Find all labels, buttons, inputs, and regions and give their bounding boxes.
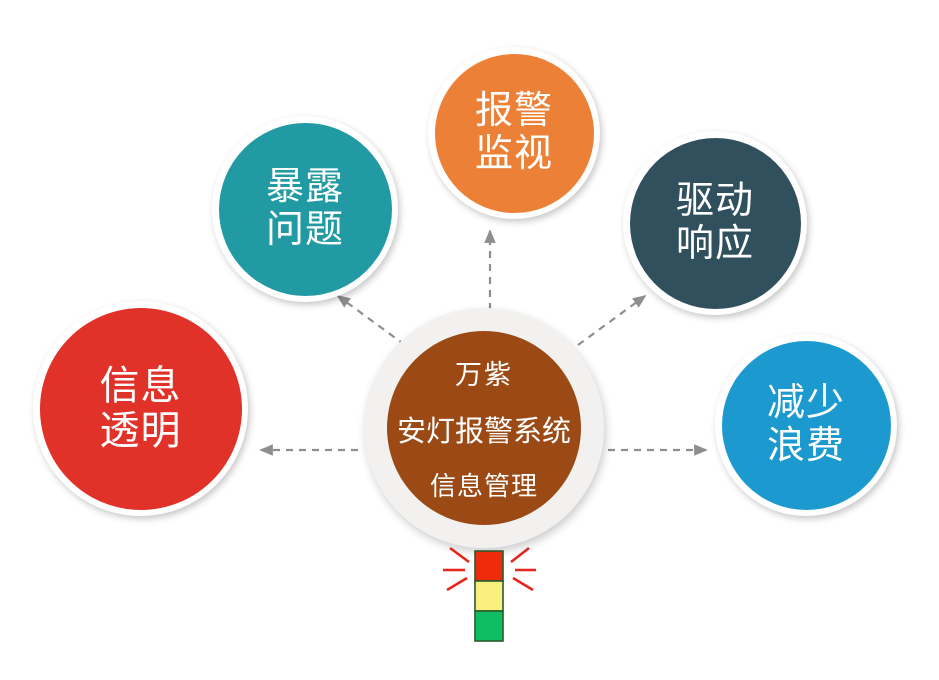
node-information-transparency[interactable]: 信息 透明 bbox=[33, 301, 248, 516]
center-node-core: 万紫 安灯报警系统 信息管理 bbox=[387, 331, 581, 525]
node-information-transparency-line-2: 透明 bbox=[100, 409, 182, 454]
node-information-transparency-line-1: 信息 bbox=[100, 364, 182, 409]
andon-light-tower-icon bbox=[430, 536, 550, 651]
node-alarm-monitoring-line-1: 报警 bbox=[475, 90, 553, 133]
node-reduce-waste-line-2: 浪费 bbox=[767, 425, 845, 468]
node-expose-problems-line-2: 问题 bbox=[266, 209, 344, 252]
node-reduce-waste[interactable]: 减少 浪费 bbox=[715, 334, 897, 516]
node-drive-response-line-1: 驱动 bbox=[676, 180, 754, 223]
center-node-line-3: 信息管理 bbox=[430, 466, 538, 503]
node-reduce-waste-disc: 减少 浪费 bbox=[722, 341, 891, 510]
node-alarm-monitoring[interactable]: 报警 监视 bbox=[428, 47, 600, 219]
center-node-line-1: 万紫 bbox=[455, 353, 513, 392]
center-node-andon-system[interactable]: 万紫 安灯报警系统 信息管理 bbox=[364, 308, 604, 548]
node-drive-response-disc: 驱动 响应 bbox=[630, 138, 801, 309]
node-alarm-monitoring-disc: 报警 监视 bbox=[435, 54, 594, 213]
node-expose-problems-line-1: 暴露 bbox=[266, 166, 344, 209]
yellow-lamp bbox=[475, 581, 503, 611]
red-lamp bbox=[475, 551, 503, 581]
green-lamp bbox=[475, 611, 503, 641]
arrow-to-drive-response bbox=[578, 296, 645, 345]
node-drive-response-line-2: 响应 bbox=[676, 223, 754, 266]
arrow-to-expose-problems bbox=[338, 296, 405, 345]
node-expose-problems-disc: 暴露 问题 bbox=[219, 123, 392, 296]
node-information-transparency-disc: 信息 透明 bbox=[40, 308, 242, 510]
node-expose-problems[interactable]: 暴露 问题 bbox=[212, 116, 398, 302]
diagram-canvas: 万紫 安灯报警系统 信息管理 报警 监视 暴露 问题 驱动 响应 信息 透明 bbox=[0, 0, 939, 680]
node-reduce-waste-line-1: 减少 bbox=[767, 382, 845, 425]
center-node-line-2: 安灯报警系统 bbox=[397, 408, 571, 450]
node-drive-response[interactable]: 驱动 响应 bbox=[623, 131, 807, 315]
node-alarm-monitoring-line-2: 监视 bbox=[475, 133, 553, 176]
